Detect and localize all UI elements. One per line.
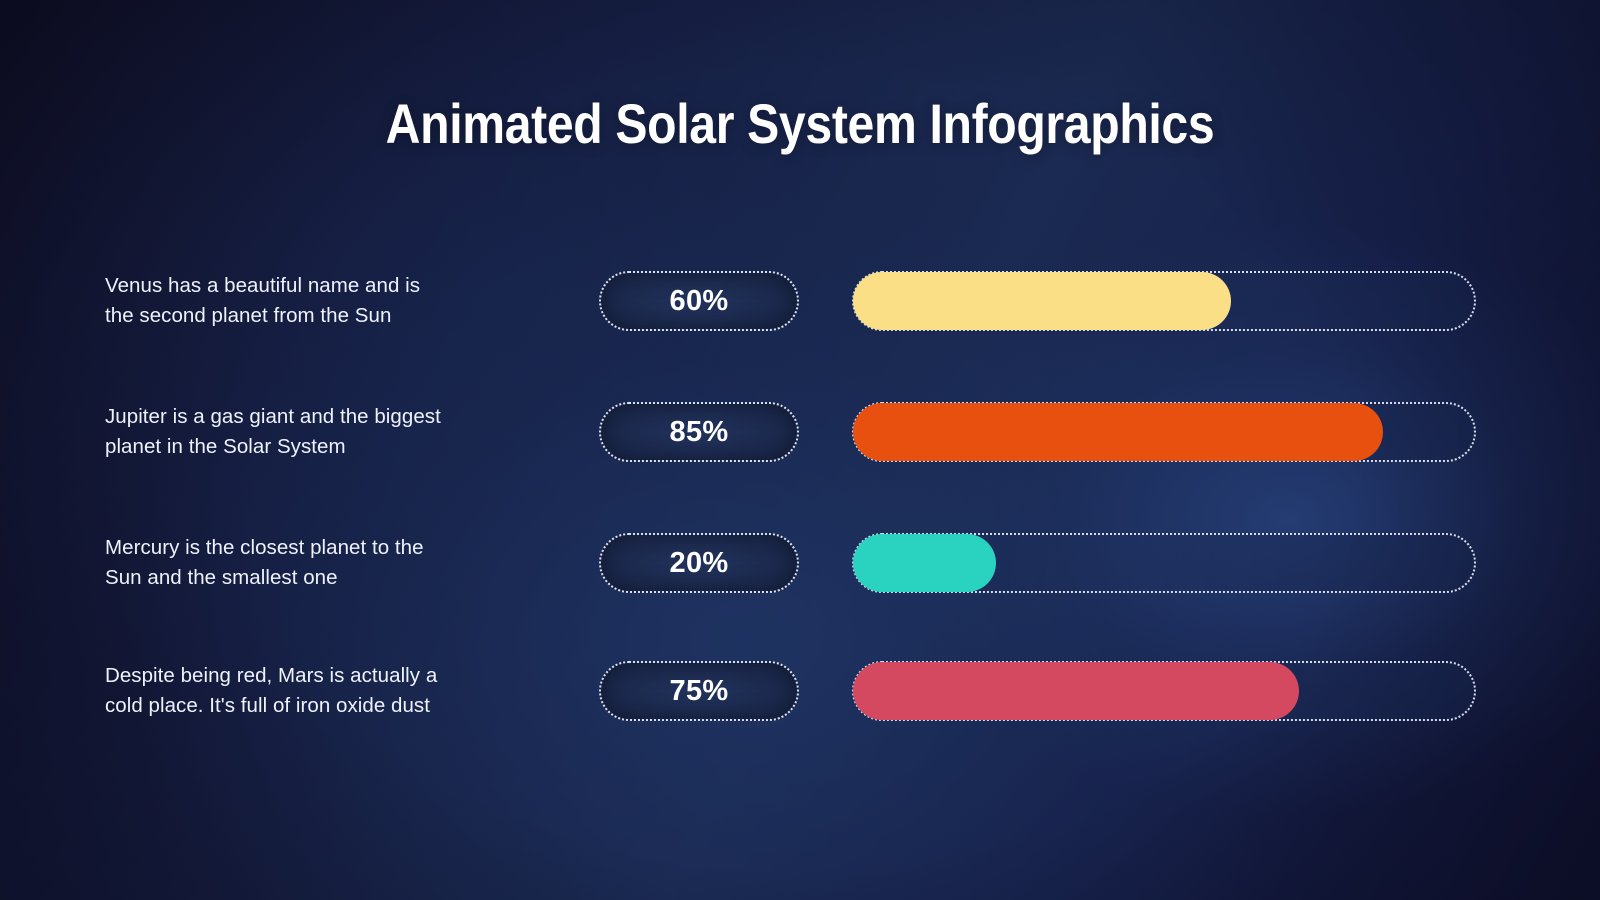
row-description-line2: Sun and the smallest one	[105, 563, 545, 593]
row-description-line1: Despite being red, Mars is actually a	[105, 664, 437, 687]
progress-track	[852, 661, 1476, 721]
row-description: Venus has a beautiful name and is the se…	[105, 271, 555, 331]
row-description: Jupiter is a gas giant and the biggest p…	[105, 402, 555, 462]
progress-fill	[853, 403, 1383, 461]
progress-row: Venus has a beautiful name and is the se…	[105, 271, 1495, 331]
page-title: Animated Solar System Infographics	[112, 95, 1488, 154]
row-description-line1: Jupiter is a gas giant and the biggest	[105, 405, 441, 428]
progress-track	[852, 271, 1476, 331]
progress-row: Mercury is the closest planet to the Sun…	[105, 533, 1495, 593]
progress-row: Despite being red, Mars is actually a co…	[105, 661, 1495, 721]
percentage-badge: 60%	[599, 271, 799, 331]
row-description-line2: the second planet from the Sun	[105, 301, 545, 331]
row-description-line1: Mercury is the closest planet to the	[105, 536, 424, 559]
progress-row: Jupiter is a gas giant and the biggest p…	[105, 402, 1495, 462]
slide-canvas: Animated Solar System Infographics Venus…	[0, 0, 1600, 900]
progress-fill	[853, 534, 996, 592]
row-description-line2: planet in the Solar System	[105, 432, 545, 462]
progress-fill	[853, 662, 1299, 720]
row-description: Mercury is the closest planet to the Sun…	[105, 533, 555, 593]
row-description-line2: cold place. It's full of iron oxide dust	[105, 691, 545, 721]
progress-track	[852, 533, 1476, 593]
percentage-badge: 75%	[599, 661, 799, 721]
progress-track	[852, 402, 1476, 462]
row-description-line1: Venus has a beautiful name and is	[105, 274, 420, 297]
percentage-badge: 20%	[599, 533, 799, 593]
row-description: Despite being red, Mars is actually a co…	[105, 661, 555, 721]
progress-fill	[853, 272, 1231, 330]
percentage-badge: 85%	[599, 402, 799, 462]
